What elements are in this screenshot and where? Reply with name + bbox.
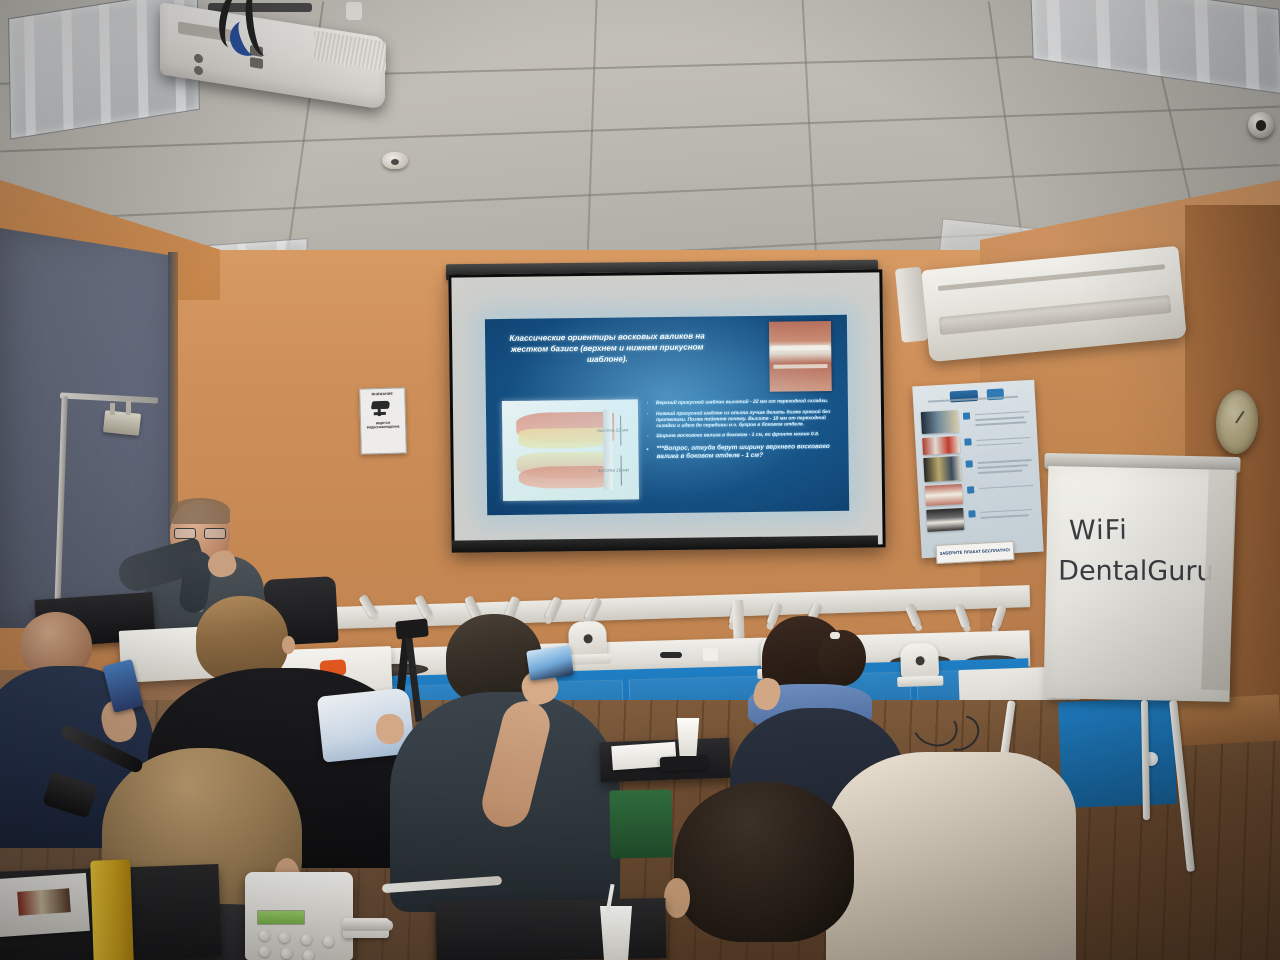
- printed-photo: [17, 888, 71, 916]
- slide-clinical-photo: [769, 321, 832, 392]
- slide-bullet-list: Верхний прикусной шаблон высотой - 22 мм…: [648, 399, 847, 465]
- handpiece: [341, 920, 393, 931]
- bench-small-item: [660, 652, 682, 658]
- poster-sign-text: ЗАБЕРИТЕ ПЛАКАТ БЕСПЛАТНО!: [940, 548, 1011, 556]
- poster-free-sign: ЗАБЕРИТЕ ПЛАКАТ БЕСПЛАТНО!: [936, 541, 1015, 564]
- slide-bullet: Ширина воскового валика в боковом - 1 см…: [656, 432, 846, 440]
- cctv-sign-bottom-text: ВЕДЕТСЯ ВИДЕОНАБЛЮДЕНИЕ: [361, 420, 405, 429]
- dome-security-camera-icon: [1248, 112, 1274, 138]
- smoke-detector-icon: [382, 152, 408, 169]
- flipchart-wifi-text: WiFi: [1069, 515, 1128, 547]
- glasses-icon: [174, 528, 226, 537]
- student-dark-hair: [650, 782, 880, 960]
- presentation-slide: Классические ориентиры восковых валиков …: [485, 315, 849, 515]
- wall-poster: [912, 380, 1043, 559]
- cctv-sign-top-text: ВНИМАНИЕ: [372, 392, 393, 397]
- dental-micromotor-unit: [245, 866, 380, 960]
- slide-bullet: Нижний прикусной шаблон из опыта лучше д…: [656, 409, 846, 430]
- micromotor-display: [257, 910, 305, 925]
- ear: [664, 878, 690, 918]
- projection-screen: Классические ориентиры восковых валиков …: [448, 269, 885, 552]
- lamp-head: [103, 410, 141, 436]
- classroom-photo: ВНИМАНИЕ ВЕДЕТСЯ ВИДЕОНАБЛЮДЕНИЕ: [0, 0, 1280, 960]
- ceiling-light-panel: [1030, 0, 1280, 94]
- lamp-bracket: [110, 403, 115, 415]
- yellow-bottle: [90, 859, 134, 960]
- slide-bullet-question: ***Вопрос, откуда берут ширину верхнего …: [656, 443, 846, 461]
- cctv-camera-icon: [369, 399, 395, 418]
- diagram-label-lower: высота 18 мм: [598, 467, 629, 472]
- lamp-bracket: [126, 401, 131, 415]
- hair-clip: [830, 632, 840, 639]
- smartphone-on-desk[interactable]: [660, 755, 709, 771]
- flipchart-network-name-text: DentalGuru: [1058, 556, 1214, 588]
- slide-bullet: Верхний прикусной шаблон высотой - 22 мм…: [656, 399, 846, 407]
- diagram-label-upper: высота 22 мм: [597, 427, 628, 432]
- ceiling-projector: [150, 2, 400, 112]
- bench-small-item: [703, 648, 718, 661]
- hair-bun: [818, 630, 866, 686]
- slide-title: Классические ориентиры восковых валиков …: [507, 331, 707, 366]
- slide-diagram: высота 22 мм высота 18 мм: [502, 399, 639, 501]
- smartphone[interactable]: [526, 645, 574, 681]
- cctv-warning-sign: ВНИМАНИЕ ВЕДЕТСЯ ВИДЕОНАБЛЮДЕНИЕ: [359, 387, 407, 454]
